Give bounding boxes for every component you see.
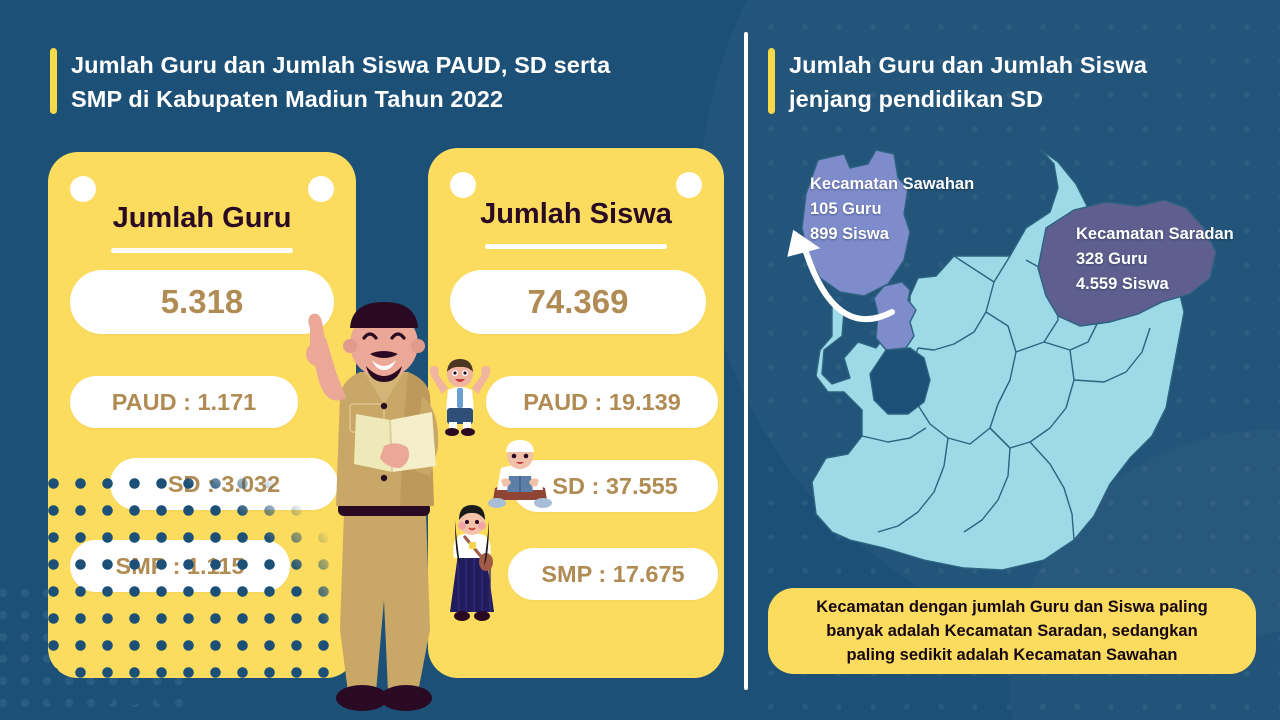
card-punch-hole-right — [308, 176, 334, 202]
map-label-sawahan: Kecamatan Sawahan 105 Guru 899 Siswa — [810, 172, 974, 247]
map-label-saradan: Kecamatan Saradan 328 Guru 4.559 Siswa — [1076, 222, 1234, 297]
guru-smp-pill: SMP : 1.115 — [70, 540, 290, 592]
right-panel-title: Jumlah Guru dan Jumlah Siswa jenjang pen… — [768, 48, 1147, 116]
title-accent-bar — [50, 48, 57, 114]
siswa-smp-pill: SMP : 17.675 — [508, 548, 718, 600]
student-boy-cheering-illustration — [430, 358, 490, 436]
card-heading-underline — [485, 244, 667, 249]
card-punch-hole-left — [70, 176, 96, 202]
left-panel-title: Jumlah Guru dan Jumlah Siswa PAUD, SD se… — [50, 48, 610, 116]
card-heading-jumlah-guru: Jumlah Guru — [48, 202, 356, 235]
summary-note-box: Kecamatan dengan jumlah Guru dan Siswa p… — [768, 588, 1256, 674]
panel-divider — [744, 32, 748, 690]
card-punch-hole-left — [450, 172, 476, 198]
card-punch-hole-right — [676, 172, 702, 198]
siswa-paud-pill: PAUD : 19.139 — [486, 376, 718, 428]
student-girl-illustration — [446, 502, 498, 624]
right-panel-title-text: Jumlah Guru dan Jumlah Siswa jenjang pen… — [789, 48, 1147, 116]
infographic-canvas: Jumlah Guru dan Jumlah Siswa PAUD, SD se… — [0, 0, 1280, 720]
left-panel-title-text: Jumlah Guru dan Jumlah Siswa PAUD, SD se… — [71, 48, 610, 116]
card-heading-underline — [111, 248, 293, 253]
title-accent-bar — [768, 48, 775, 114]
guru-paud-pill: PAUD : 1.171 — [70, 376, 298, 428]
summary-note-text: Kecamatan dengan jumlah Guru dan Siswa p… — [798, 595, 1226, 667]
card-heading-jumlah-siswa: Jumlah Siswa — [428, 198, 724, 231]
